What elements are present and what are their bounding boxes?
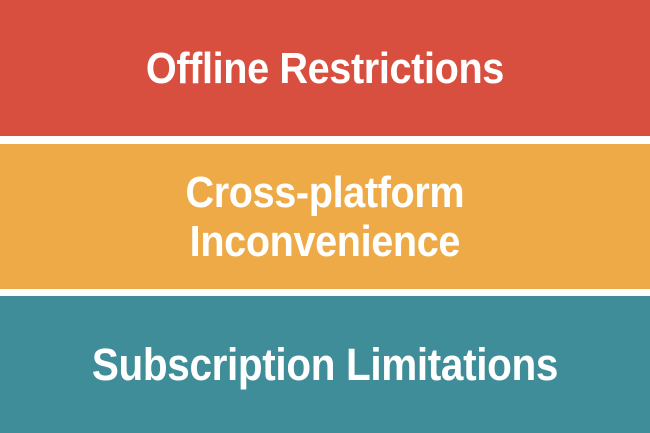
band-label-offline-restrictions: Offline Restrictions: [132, 44, 519, 93]
band-divider-1: [0, 136, 650, 144]
band-divider-2: [0, 289, 650, 296]
band-subscription-limitations: Subscription Limitations: [0, 296, 650, 433]
band-label-cross-platform-inconvenience: Cross-platform Inconvenience: [171, 168, 479, 266]
band-label-subscription-limitations: Subscription Limitations: [78, 340, 573, 389]
band-cross-platform-inconvenience: Cross-platform Inconvenience: [0, 144, 650, 289]
limitations-infographic: Offline Restrictions Cross-platform Inco…: [0, 0, 650, 433]
band-offline-restrictions: Offline Restrictions: [0, 0, 650, 136]
